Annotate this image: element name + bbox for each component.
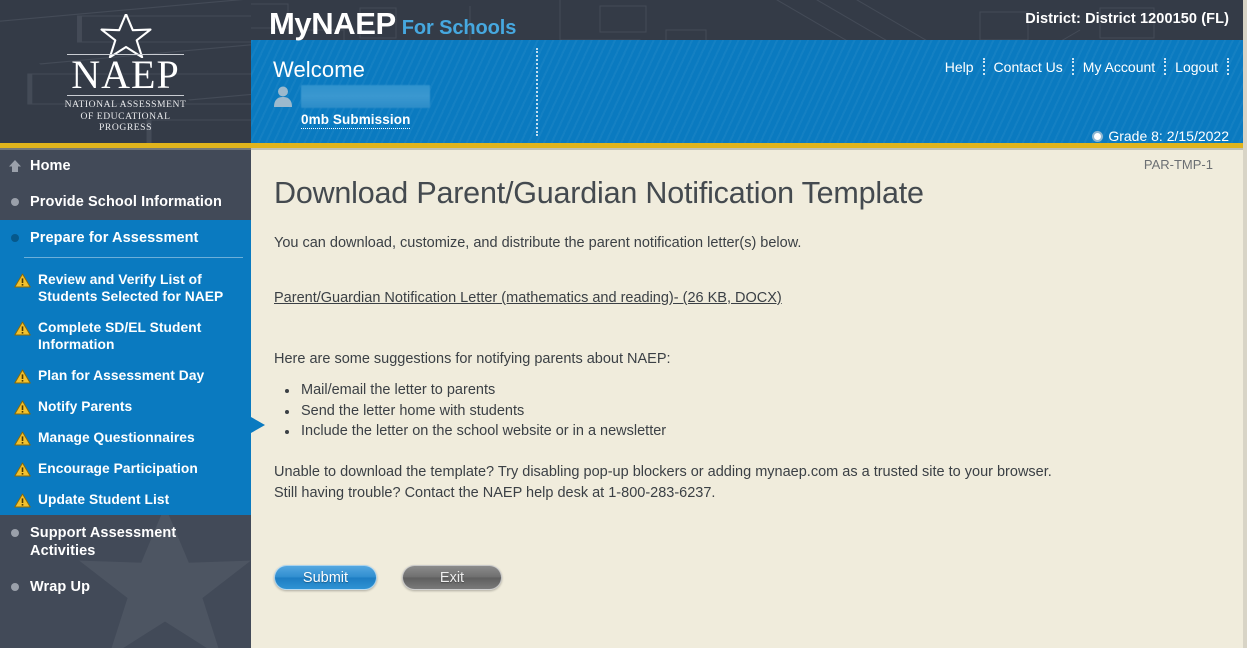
sidebar-item-label: Update Student List: [38, 491, 169, 508]
right-page-edge: [1243, 0, 1247, 648]
main-content: PAR-TMP-1 Download Parent/Guardian Notif…: [251, 150, 1241, 648]
sidebar-item-label: Encourage Participation: [38, 460, 198, 477]
brand-title: MyNAEPFor Schools: [269, 6, 516, 42]
sidebar-item-manage-questionnaires[interactable]: Manage Questionnaires: [0, 422, 251, 453]
welcome-panel-divider: [536, 48, 538, 136]
app-root: District: District 1200150 (FL) Welcome …: [0, 0, 1247, 648]
warning-icon: [14, 273, 31, 288]
warning-icon: [14, 369, 31, 384]
dot-icon: [8, 580, 22, 594]
sidebar-item-label: Manage Questionnaires: [38, 429, 195, 446]
sidebar-item-prepare-for-assessment[interactable]: Prepare for Assessment: [0, 220, 251, 256]
dot-icon: [8, 526, 22, 540]
gold-divider-shadow: [0, 148, 1247, 150]
logo-subtitle-line3: PROGRESS: [0, 122, 251, 134]
grade-status: Grade 8: 2/15/2022: [1092, 128, 1229, 143]
logo-subtitle-line2: OF EDUCATIONAL: [0, 111, 251, 123]
naep-logo-panel[interactable]: NAEP NATIONAL ASSESSMENT OF EDUCATIONAL …: [0, 0, 251, 143]
sidebar-item-provide-school-information[interactable]: Provide School Information: [0, 184, 251, 220]
sidebar-group-prepare-for-assessment: Prepare for Assessment Review and Verify…: [0, 220, 251, 515]
blue-header-band: Welcome 0mb Submission Help Contact Us M…: [251, 40, 1247, 143]
utility-link-help[interactable]: Help: [945, 59, 983, 75]
radio-dot-icon: [1092, 131, 1103, 142]
sidebar-item-label: Complete SD/EL Student Information: [38, 319, 233, 353]
sidebar-nav: Home Provide School Information Prepare …: [0, 148, 251, 648]
brand-title-secondary: For Schools: [402, 17, 516, 39]
page-title: Download Parent/Guardian Notification Te…: [274, 176, 924, 211]
list-item: Send the letter home with students: [274, 401, 666, 422]
suggestions-list: Mail/email the letter to parents Send th…: [274, 380, 666, 442]
submit-button[interactable]: Submit: [274, 565, 377, 590]
sidebar-item-label: Notify Parents: [38, 398, 132, 415]
sidebar-group-separator: [24, 257, 243, 258]
sidebar-item-notify-parents[interactable]: Notify Parents: [0, 391, 251, 422]
submission-link[interactable]: 0mb Submission: [301, 112, 410, 129]
download-letter-link[interactable]: Parent/Guardian Notification Letter (mat…: [274, 290, 782, 306]
utility-link-my-account[interactable]: My Account: [1074, 59, 1164, 75]
sidebar-item-home[interactable]: Home: [0, 148, 251, 184]
dot-icon: [8, 231, 22, 245]
troubleshooting-line-2: Still having trouble? Contact the NAEP h…: [274, 483, 1052, 504]
sidebar-item-label: Home: [30, 157, 71, 175]
user-icon: [273, 85, 293, 107]
list-item: Mail/email the letter to parents: [274, 380, 666, 401]
brand-title-primary: MyNAEP: [269, 6, 396, 41]
sidebar-item-plan-for-assessment-day[interactable]: Plan for Assessment Day: [0, 360, 251, 391]
utility-nav: Help Contact Us My Account Logout: [945, 58, 1229, 75]
suggestions-heading: Here are some suggestions for notifying …: [274, 351, 671, 367]
troubleshooting-text: Unable to download the template? Try dis…: [274, 462, 1052, 504]
utility-link-contact-us[interactable]: Contact Us: [985, 59, 1072, 75]
page-code-label: PAR-TMP-1: [1144, 157, 1213, 172]
sidebar-item-review-and-verify-list-of-students[interactable]: Review and Verify List of Students Selec…: [0, 264, 251, 312]
sidebar-item-label: Review and Verify List of Students Selec…: [38, 271, 233, 305]
troubleshooting-line-1: Unable to download the template? Try dis…: [274, 462, 1052, 483]
sidebar-item-label: Plan for Assessment Day: [38, 367, 204, 384]
sidebar-item-label: Support Assessment Activities: [30, 524, 241, 560]
warning-icon: [14, 321, 31, 336]
list-item: Include the letter on the school website…: [274, 421, 666, 442]
dot-icon: [8, 195, 22, 209]
active-page-pointer-icon: [251, 417, 265, 433]
sidebar-item-label: Wrap Up: [30, 578, 90, 596]
district-label: District: District 1200150 (FL): [1025, 11, 1229, 27]
utility-nav-separator: [1227, 58, 1229, 75]
sidebar-item-label: Prepare for Assessment: [30, 229, 199, 247]
exit-button[interactable]: Exit: [402, 565, 502, 590]
form-actions: Submit Exit: [274, 565, 502, 590]
warning-icon: [14, 431, 31, 446]
sidebar-item-support-assessment-activities[interactable]: Support Assessment Activities: [0, 515, 251, 569]
sidebar-item-complete-sd-el-student-information[interactable]: Complete SD/EL Student Information: [0, 312, 251, 360]
naep-logo: NAEP NATIONAL ASSESSMENT OF EDUCATIONAL …: [0, 14, 251, 134]
sidebar-item-label: Provide School Information: [30, 193, 222, 211]
sidebar-item-update-student-list[interactable]: Update Student List: [0, 484, 251, 515]
welcome-label: Welcome: [273, 57, 365, 83]
logo-acronym: NAEP: [67, 54, 183, 96]
home-arrow-icon: [8, 159, 22, 173]
grade-status-label: Grade 8: 2/15/2022: [1108, 128, 1229, 143]
user-info-row: 0mb Submission: [273, 85, 430, 129]
sidebar-item-encourage-participation[interactable]: Encourage Participation: [0, 453, 251, 484]
user-details: 0mb Submission: [301, 85, 430, 129]
utility-link-logout[interactable]: Logout: [1166, 59, 1227, 75]
logo-subtitle-line1: NATIONAL ASSESSMENT: [0, 99, 251, 111]
intro-text: You can download, customize, and distrib…: [274, 235, 801, 251]
sidebar-item-wrap-up[interactable]: Wrap Up: [0, 569, 251, 605]
logo-subtitle: NATIONAL ASSESSMENT OF EDUCATIONAL PROGR…: [0, 99, 251, 134]
warning-icon: [14, 400, 31, 415]
sidebar-items: Home Provide School Information Prepare …: [0, 148, 251, 605]
user-name-redacted: [301, 85, 430, 108]
warning-icon: [14, 493, 31, 508]
warning-icon: [14, 462, 31, 477]
